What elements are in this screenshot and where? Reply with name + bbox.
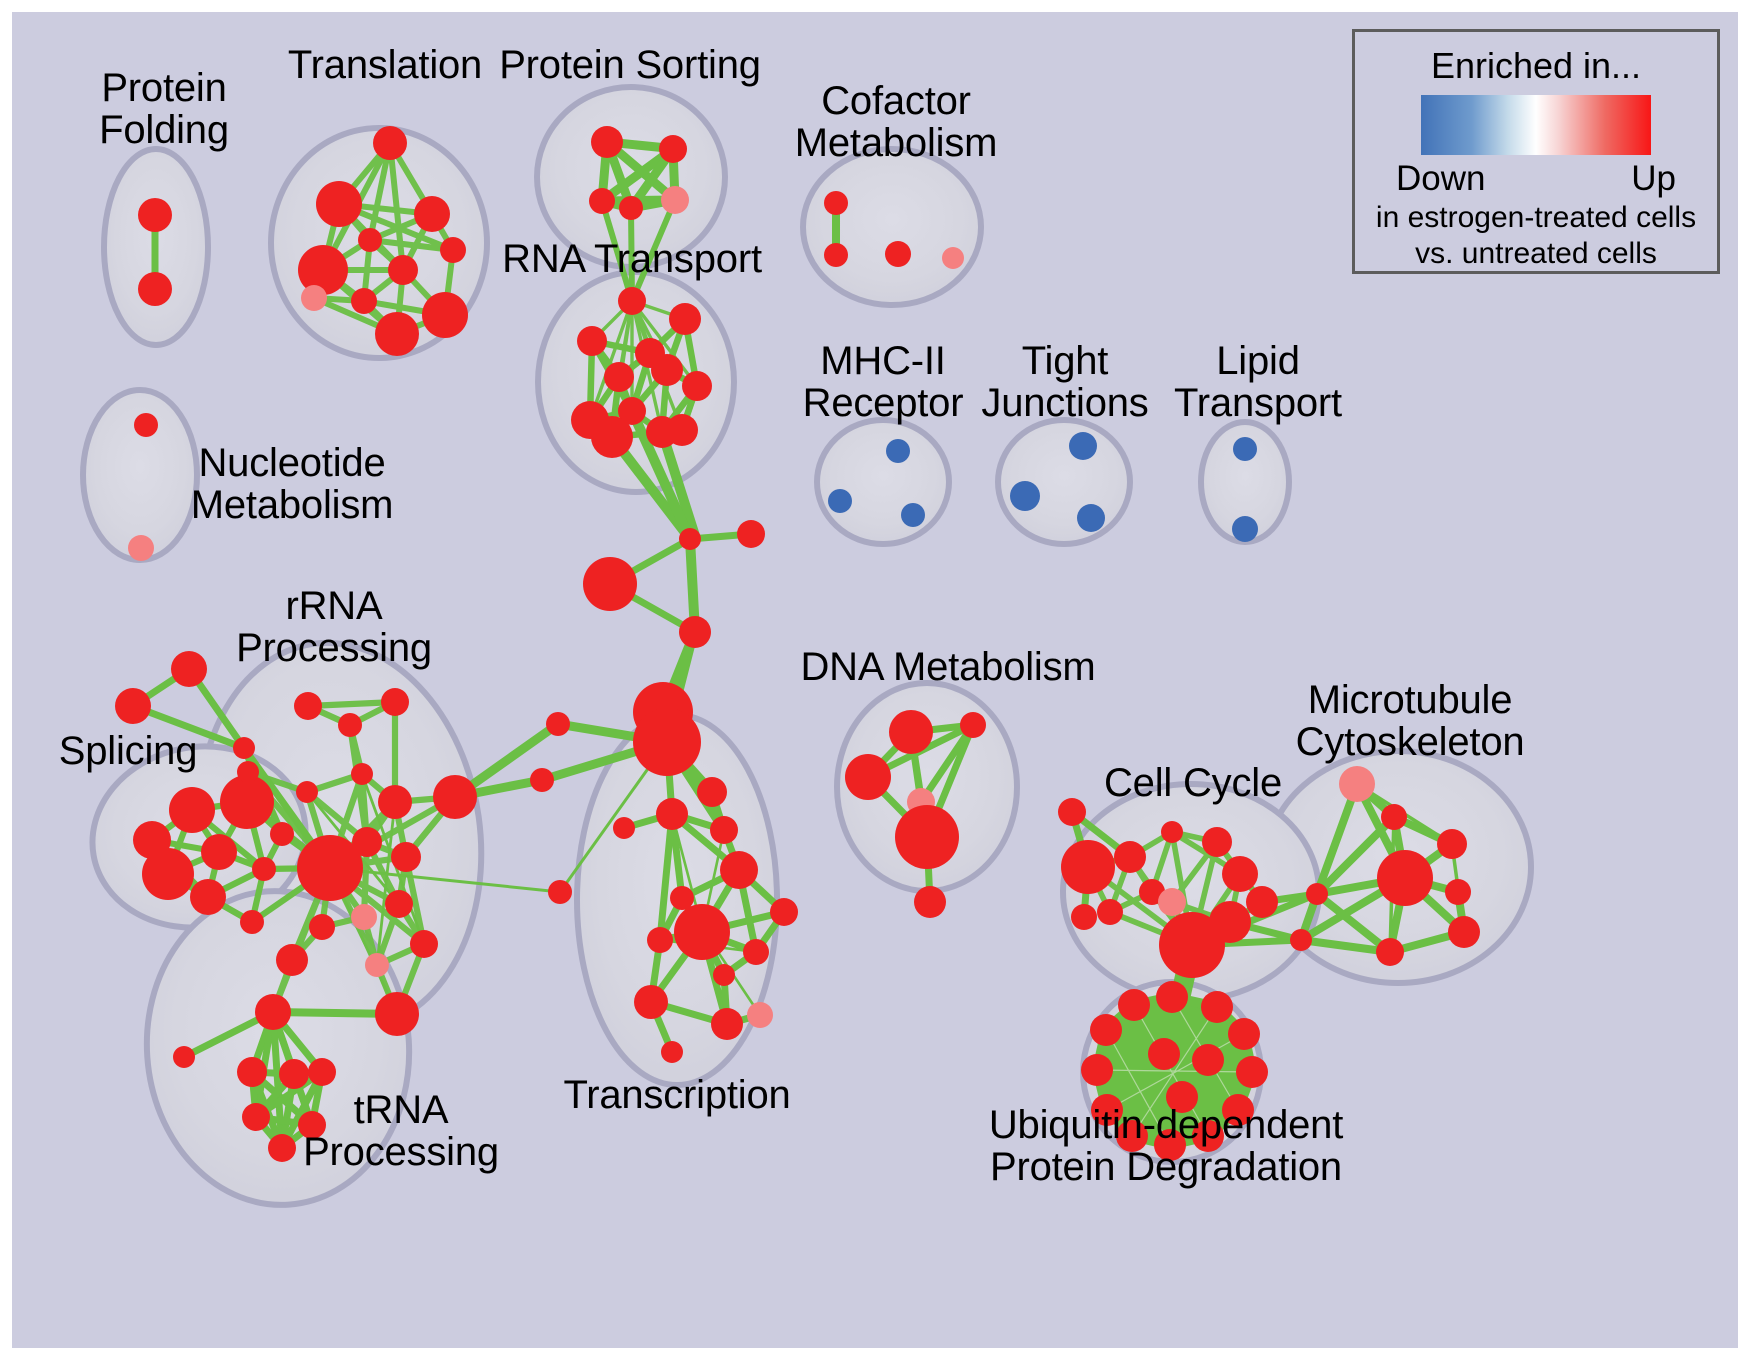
blob-mhc <box>817 420 949 544</box>
blob-cofactor <box>803 149 981 305</box>
cluster-label-microtubule-cytoskeleton: Microtubule Cytoskeleton <box>1296 679 1525 764</box>
cluster-label-translation: Translation <box>288 44 482 86</box>
blob-tight-junctions <box>998 420 1130 544</box>
cluster-label-rna-transport: RNA Transport <box>502 238 762 280</box>
legend-title: Enriched in... <box>1431 45 1641 87</box>
cluster-label-protein-folding: Protein Folding <box>99 67 229 152</box>
cluster-label-transcription: Transcription <box>563 1074 790 1116</box>
cluster-label-ubiquitin-degradation: Ubiquitin-dependent Protein Degradation <box>989 1104 1343 1189</box>
figure-canvas: Protein Folding Translation Protein Sort… <box>0 0 1750 1360</box>
legend-caption-line1: in estrogen-treated cells <box>1376 201 1696 235</box>
cluster-label-tight-junctions: Tight Junctions <box>981 340 1148 425</box>
legend-box: Enriched in... Down Up in estrogen-treat… <box>1352 29 1720 274</box>
cluster-label-trna-processing: tRNA Processing <box>303 1089 499 1174</box>
cluster-label-splicing: Splicing <box>59 730 197 772</box>
cluster-label-lipid-transport: Lipid Transport <box>1174 340 1342 425</box>
cluster-label-dna-metabolism: DNA Metabolism <box>800 646 1095 688</box>
legend-caption-line2: vs. untreated cells <box>1415 237 1657 271</box>
cluster-label-cofactor-metabolism: Cofactor Metabolism <box>795 80 998 165</box>
legend-low-label: Down <box>1396 159 1485 199</box>
cluster-label-cell-cycle: Cell Cycle <box>1104 762 1282 804</box>
legend-color-gradient <box>1421 95 1651 155</box>
cluster-label-protein-sorting: Protein Sorting <box>499 44 761 86</box>
cluster-label-mhc-ii-receptor: MHC-II Receptor <box>803 340 964 425</box>
network-plot-area: Protein Folding Translation Protein Sort… <box>12 12 1738 1348</box>
legend-endpoint-labels: Down Up <box>1396 159 1676 199</box>
cluster-label-rrna-processing: rRNA Processing <box>236 585 432 670</box>
legend-high-label: Up <box>1631 159 1676 199</box>
cluster-label-nucleotide-metabolism: Nucleotide Metabolism <box>191 442 394 527</box>
